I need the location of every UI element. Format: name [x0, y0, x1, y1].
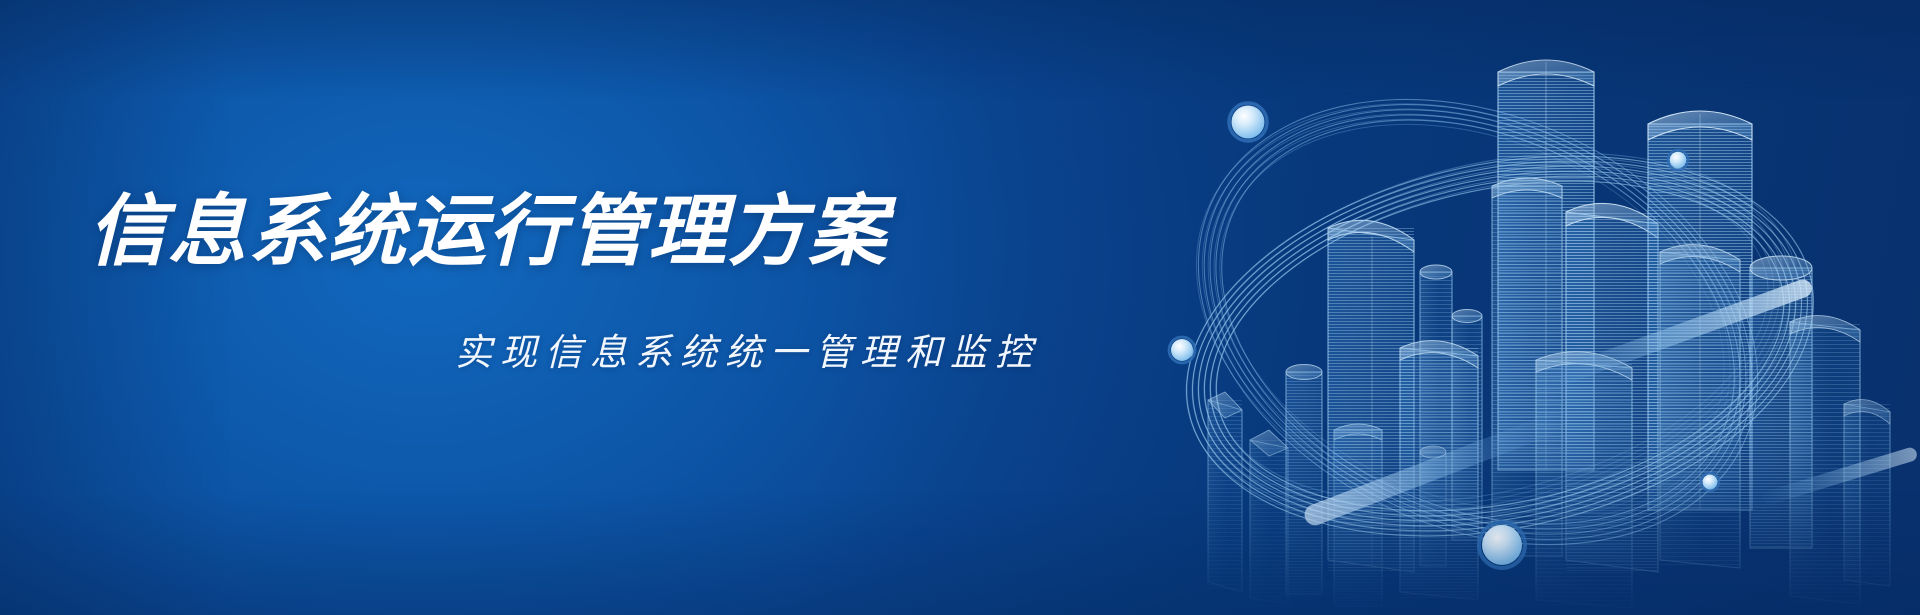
dot-bottom-large	[1479, 522, 1525, 568]
dot-top-left	[1229, 103, 1267, 141]
dot-top-right	[1668, 150, 1688, 170]
tower-13	[1208, 392, 1242, 592]
dot-mid-left	[1169, 337, 1195, 363]
tower-14	[1250, 430, 1288, 604]
tower-10	[1660, 245, 1740, 568]
banner-title: 信息系统运行管理方案	[88, 192, 888, 270]
dot-right-small	[1701, 473, 1719, 491]
tower-8	[1536, 352, 1632, 608]
hero-banner: 信息系统运行管理方案 实现信息系统统一管理和监控	[0, 0, 1920, 615]
tower-15	[1286, 365, 1322, 595]
tower-small-b	[1844, 400, 1890, 587]
city-artwork	[1100, 0, 1920, 615]
banner-subtitle: 实现信息系统统一管理和监控	[455, 334, 1040, 371]
banner-text-block: 信息系统运行管理方案 实现信息系统统一管理和监控	[0, 0, 1150, 615]
